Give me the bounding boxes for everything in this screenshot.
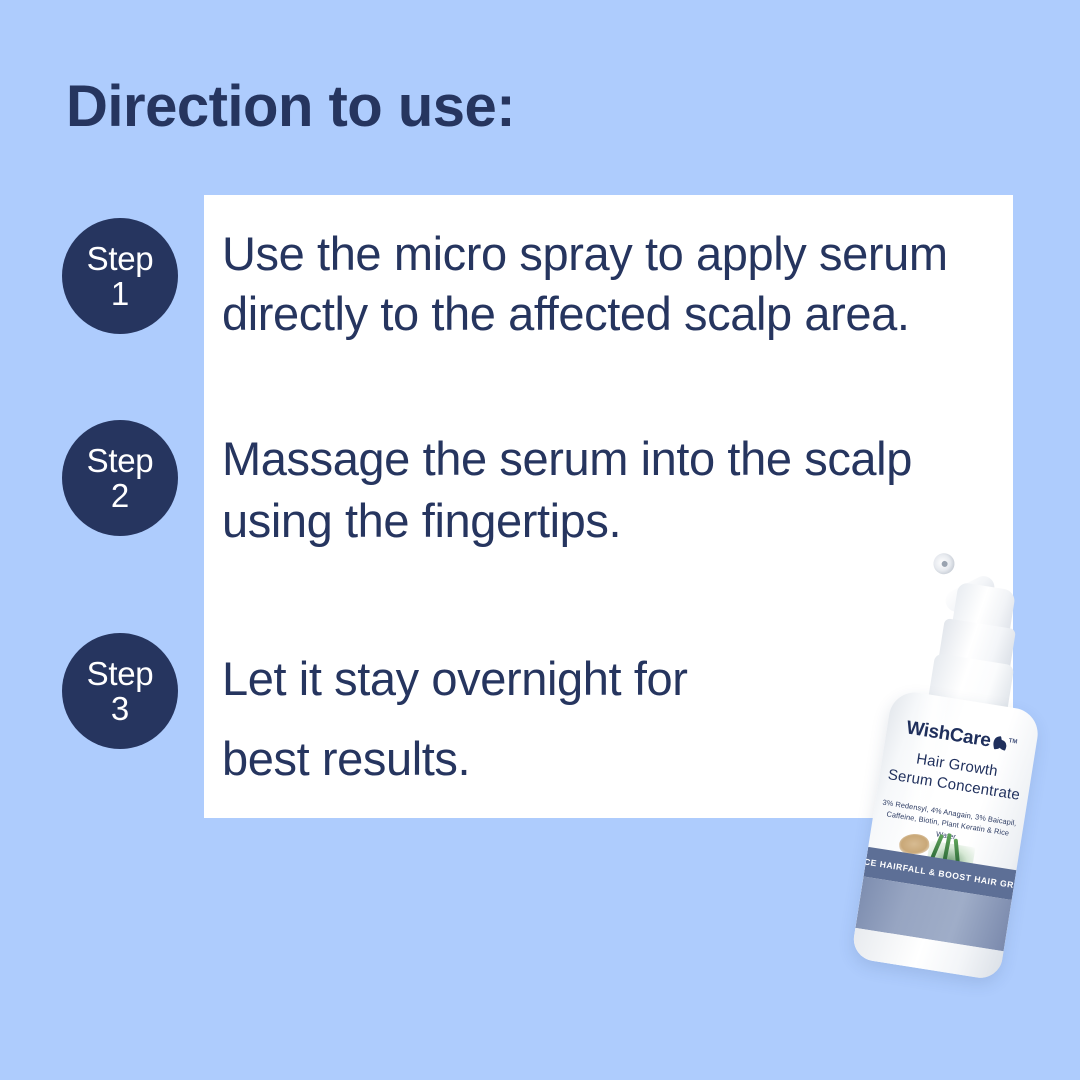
step-badge-label: Step [87, 657, 154, 690]
nozzle-hole-icon [940, 560, 948, 568]
step-badge-number: 2 [111, 479, 129, 512]
step-badge-label: Step [87, 242, 154, 275]
step-badge-number: 3 [111, 692, 129, 725]
step-text-line: Use the micro spray to apply serum [222, 224, 1052, 284]
spray-nozzle-tip-icon [930, 550, 958, 578]
step-text-1: Use the micro spray to apply serum direc… [222, 224, 1052, 344]
poster-canvas: Direction to use: Step 1 Use the micro s… [0, 0, 1080, 1080]
step-badge-label: Step [87, 444, 154, 477]
bottle-body: WishCareTM Hair Growth Serum Concentrate… [851, 689, 1042, 981]
trademark-mark: TM [1008, 738, 1018, 745]
step-badge-2: Step 2 [62, 420, 178, 536]
step-badge-number: 1 [111, 277, 129, 310]
step-text-2: Massage the serum into the scalp using t… [222, 428, 1052, 552]
step-badge-3: Step 3 [62, 633, 178, 749]
leaf-logo-icon [991, 734, 1009, 752]
page-title: Direction to use: [66, 78, 515, 136]
step-text-line: directly to the affected scalp area. [222, 284, 1052, 344]
step-badge-1: Step 1 [62, 218, 178, 334]
step-text-line: Massage the serum into the scalp [222, 428, 1052, 490]
